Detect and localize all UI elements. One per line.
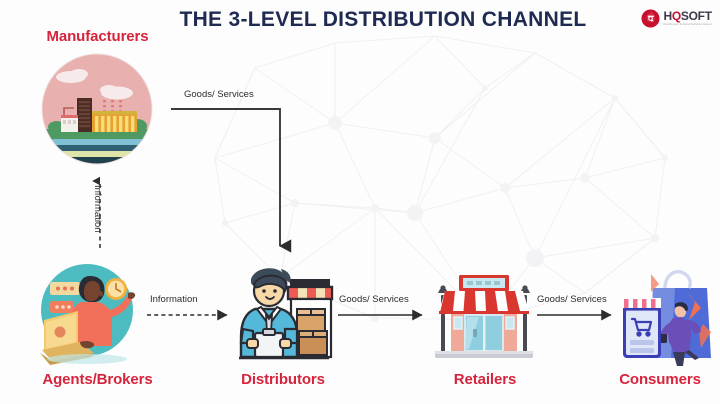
connector-label-information-vertical: Information [92,185,103,233]
factory-icon [41,53,153,165]
logo-wordmark: HQSOFT [664,10,713,22]
shopper-icon [615,262,715,366]
logo-word-q: Q [672,9,681,23]
hqsoft-mark-icon [641,9,660,28]
connector-label-goods-services-top: Goods/ Services [184,89,254,100]
connector-retailers-to-consumers [535,306,621,324]
connector-label-goods-services-middle: Goods/ Services [339,294,409,305]
logo-word-soft: SOFT [681,9,712,23]
node-label-retailers: Retailers [420,371,550,388]
storefront-icon [429,265,539,365]
brand-logo[interactable]: HQSOFT Distribution & Retail Solution Ex… [641,9,713,28]
connector-manufacturers-to-distributors [168,104,298,259]
connector-agents-to-distributors [145,306,237,324]
page-title: THE 3-LEVEL DISTRIBUTION CHANNEL [168,8,598,32]
logo-tagline: Distribution & Retail Solution Expert [664,24,713,27]
broker-laptop-icon [32,258,142,368]
node-label-consumers: Consumers [600,371,720,388]
node-label-distributors: Distributors [213,371,353,388]
diagram-canvas: THE 3-LEVEL DISTRIBUTION CHANNEL HQSOFT … [0,0,720,404]
connector-label-goods-services-right: Goods/ Services [537,294,607,305]
distributor-icon [235,257,333,367]
logo-word-h: H [664,9,672,23]
node-label-agents-brokers: Agents/Brokers [0,371,195,388]
node-label-manufacturers: Manufacturers [0,28,195,45]
connector-label-information-horizontal: Information [150,294,198,305]
connector-distributors-to-retailers [336,306,432,324]
